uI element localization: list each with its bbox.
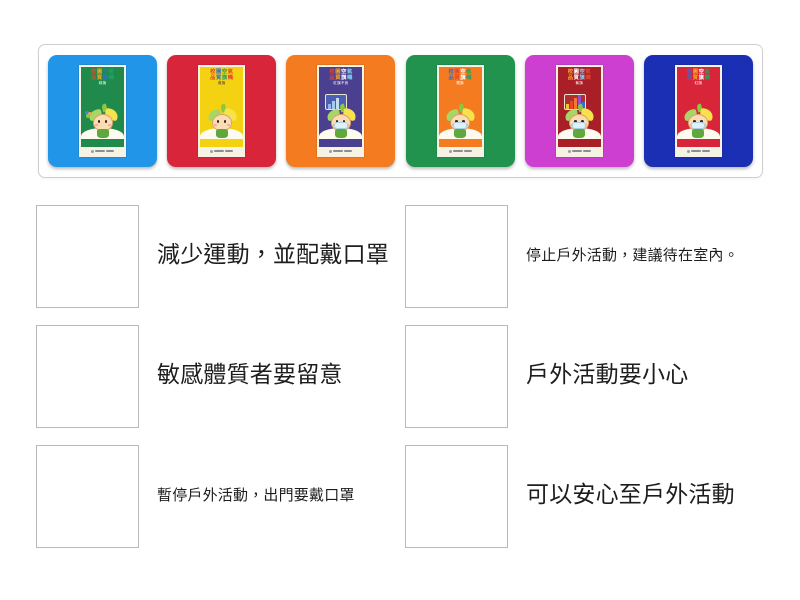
character-cheek-icon (95, 124, 98, 126)
poster-4: 校園空氣品質旗幟橘旗 (437, 65, 484, 157)
character-eye-icon (217, 120, 220, 123)
footer-text-bar (214, 150, 224, 152)
match-label-5: 暫停戶外活動，出門要戴口罩 (139, 486, 405, 506)
poster-footer (439, 147, 482, 155)
match-label-3: 敏感體質者要留意 (139, 361, 405, 391)
footer-logo-icon (568, 150, 571, 153)
footer-logo-icon (210, 150, 213, 153)
poster-title-poster_title_line3: 紅旗 (677, 81, 720, 86)
match-label-6: 可以安心至戶外活動 (508, 481, 774, 511)
drop-zone-2[interactable] (405, 205, 508, 308)
poster-inner: 校園空氣品質旗幟紫旗 (558, 67, 601, 147)
poster-5: 校園空氣品質旗幟紫旗 (556, 65, 603, 157)
poster-title: 校園空氣品質旗幟綠旗 (81, 67, 124, 86)
character-body-icon (692, 129, 704, 138)
footer-text-bar (583, 150, 591, 152)
poster-2: 校園空氣品質旗幟黃旗 (198, 65, 245, 157)
character-body-icon (573, 129, 585, 138)
poster-6: 校園空氣品質旗幟紅旗 (675, 65, 722, 157)
character-cheek-icon (108, 124, 111, 126)
poster-footer (200, 147, 243, 155)
poster-title: 校園空氣品質旗幟黃旗 (200, 67, 243, 86)
sprout-character-icon (326, 104, 356, 138)
footer-text-bar (333, 150, 343, 152)
draggable-card-2[interactable]: 校園空氣品質旗幟黃旗 (167, 55, 276, 167)
poster-footer (677, 147, 720, 155)
character-body-icon (97, 129, 109, 138)
activity-stage: 校園空氣品質旗幟綠旗校園空氣品質旗幟黃旗校園空氣品質旗幟紅旗不良校園空氣品質旗幟… (0, 0, 800, 600)
drop-zone-3[interactable] (36, 325, 139, 428)
flower-icon (85, 111, 93, 119)
footer-text-bar (702, 150, 710, 152)
match-item: 暫停戶外活動，出門要戴口罩 (36, 436, 405, 556)
character-eye-icon (98, 120, 101, 123)
match-label-1: 減少運動，並配戴口罩 (139, 241, 405, 271)
poster-title: 校園空氣品質旗幟橘旗 (439, 67, 482, 86)
match-grid: 減少運動，並配戴口罩停止戶外活動，建議待在室內。敏感體質者要留意戶外活動要小心暫… (36, 196, 766, 556)
card-tray: 校園空氣品質旗幟綠旗校園空氣品質旗幟黃旗校園空氣品質旗幟紅旗不良校園空氣品質旗幟… (38, 44, 763, 178)
draggable-card-6[interactable]: 校園空氣品質旗幟紅旗 (644, 55, 753, 167)
character-eye-icon (224, 120, 227, 123)
match-item: 停止戶外活動，建議待在室內。 (405, 196, 774, 316)
draggable-card-1[interactable]: 校園空氣品質旗幟綠旗 (48, 55, 157, 167)
match-label-2: 停止戶外活動，建議待在室內。 (508, 246, 774, 266)
match-item: 戶外活動要小心 (405, 316, 774, 436)
sprout-character-icon (88, 104, 118, 138)
drop-zone-1[interactable] (36, 205, 139, 308)
footer-text-bar (95, 150, 105, 152)
poster-inner: 校園空氣品質旗幟紅旗 (677, 67, 720, 147)
footer-logo-icon (687, 150, 690, 153)
character-body-icon (335, 129, 347, 138)
face-mask-icon (334, 122, 348, 129)
poster-title: 校園空氣品質旗幟紅旗 (677, 67, 720, 86)
character-cheek-icon (227, 124, 230, 126)
match-item: 可以安心至戶外活動 (405, 436, 774, 556)
footer-text-bar (225, 150, 233, 152)
character-body-icon (216, 129, 228, 138)
character-eye-icon (105, 120, 108, 123)
match-item: 敏感體質者要留意 (36, 316, 405, 436)
poster-title-poster_title_line3: 綠旗 (81, 81, 124, 86)
face-mask-icon (691, 122, 705, 129)
sprout-character-icon (207, 104, 237, 138)
footer-text-bar (453, 150, 463, 152)
footer-text-bar (464, 150, 472, 152)
poster-footer (81, 147, 124, 155)
character-cheek-icon (214, 124, 217, 126)
poster-inner: 校園空氣品質旗幟橘旗 (439, 67, 482, 147)
match-item: 減少運動，並配戴口罩 (36, 196, 405, 316)
poster-3: 校園空氣品質旗幟紅旗不良 (317, 65, 364, 157)
footer-text-bar (691, 150, 701, 152)
sprout-character-icon (683, 104, 713, 138)
poster-footer (319, 147, 362, 155)
character-body-icon (454, 129, 466, 138)
poster-title-poster_title_line3: 橘旗 (439, 81, 482, 86)
draggable-card-4[interactable]: 校園空氣品質旗幟橘旗 (406, 55, 515, 167)
sprout-character-icon (564, 104, 594, 138)
drop-zone-4[interactable] (405, 325, 508, 428)
poster-title: 校園空氣品質旗幟紅旗不良 (319, 67, 362, 86)
sprout-character-icon (445, 104, 475, 138)
footer-logo-icon (91, 150, 94, 153)
poster-title-poster_title_line3: 紅旗不良 (319, 81, 362, 86)
poster-inner: 校園空氣品質旗幟黃旗 (200, 67, 243, 147)
poster-inner: 校園空氣品質旗幟紅旗不良 (319, 67, 362, 147)
face-mask-icon (572, 122, 586, 129)
footer-text-bar (572, 150, 582, 152)
footer-text-bar (106, 150, 114, 152)
footer-text-bar (344, 150, 352, 152)
drop-zone-5[interactable] (36, 445, 139, 548)
poster-title-poster_title_line3: 紫旗 (558, 81, 601, 86)
draggable-card-3[interactable]: 校園空氣品質旗幟紅旗不良 (286, 55, 395, 167)
footer-logo-icon (449, 150, 452, 153)
face-mask-icon (453, 122, 467, 129)
draggable-card-5[interactable]: 校園空氣品質旗幟紫旗 (525, 55, 634, 167)
poster-title: 校園空氣品質旗幟紫旗 (558, 67, 601, 86)
match-label-4: 戶外活動要小心 (508, 361, 774, 391)
poster-title-poster_title_line3: 黃旗 (200, 81, 243, 86)
poster-1: 校園空氣品質旗幟綠旗 (79, 65, 126, 157)
drop-zone-6[interactable] (405, 445, 508, 548)
poster-inner: 校園空氣品質旗幟綠旗 (81, 67, 124, 147)
poster-footer (558, 147, 601, 155)
footer-logo-icon (329, 150, 332, 153)
